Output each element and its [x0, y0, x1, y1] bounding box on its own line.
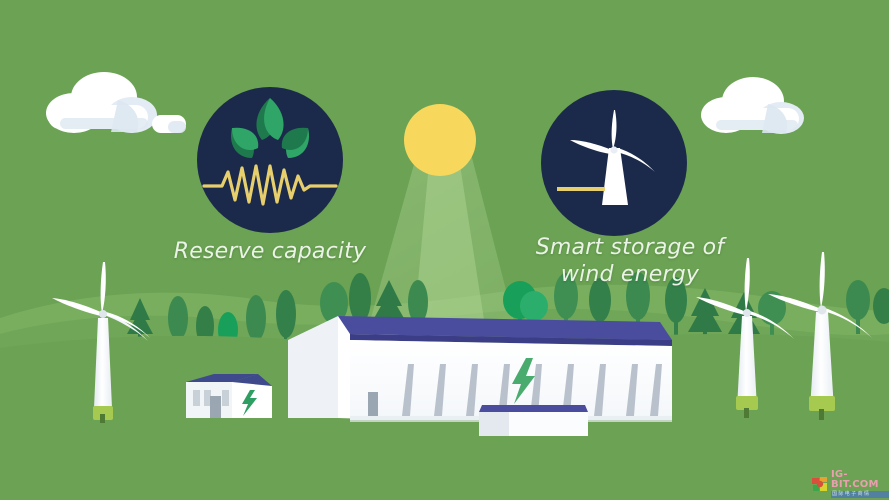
house-window — [204, 390, 211, 406]
turbine-base — [809, 396, 835, 411]
energy-storage-plant — [288, 316, 672, 422]
turbine-door — [100, 414, 105, 423]
house-door — [210, 396, 221, 418]
turbine-door — [819, 409, 824, 420]
house-window — [222, 390, 229, 406]
illustration-canvas: Reserve capacity Smart storage of wind e… — [0, 0, 889, 500]
landscape-layer — [0, 0, 889, 500]
annex-roof — [479, 405, 588, 412]
watermark-logo-icon — [812, 476, 828, 492]
house-window — [193, 390, 200, 406]
caption-smart-storage: Smart storage of wind energy — [510, 234, 750, 288]
annex-wall-shade — [479, 412, 509, 436]
badge-smart-storage[interactable] — [541, 90, 687, 236]
front-annex-building — [479, 405, 588, 436]
ig-bit-watermark: IG-BIT.COM 国际电子商情 — [812, 470, 889, 498]
turbine-base — [736, 396, 758, 410]
watermark-text: IG-BIT.COM 国际电子商情 — [831, 470, 889, 498]
cloud-left-small — [152, 115, 186, 133]
watermark-title: IG-BIT.COM — [831, 470, 889, 490]
caption-reserve-capacity: Reserve capacity — [170, 238, 370, 265]
watermark-subtitle: 国际电子商情 — [831, 491, 889, 498]
sun — [404, 104, 476, 176]
substation-house — [186, 374, 272, 418]
turbine-door — [744, 408, 749, 418]
badge-reserve-capacity[interactable] — [197, 87, 343, 233]
plant-door — [368, 392, 378, 416]
